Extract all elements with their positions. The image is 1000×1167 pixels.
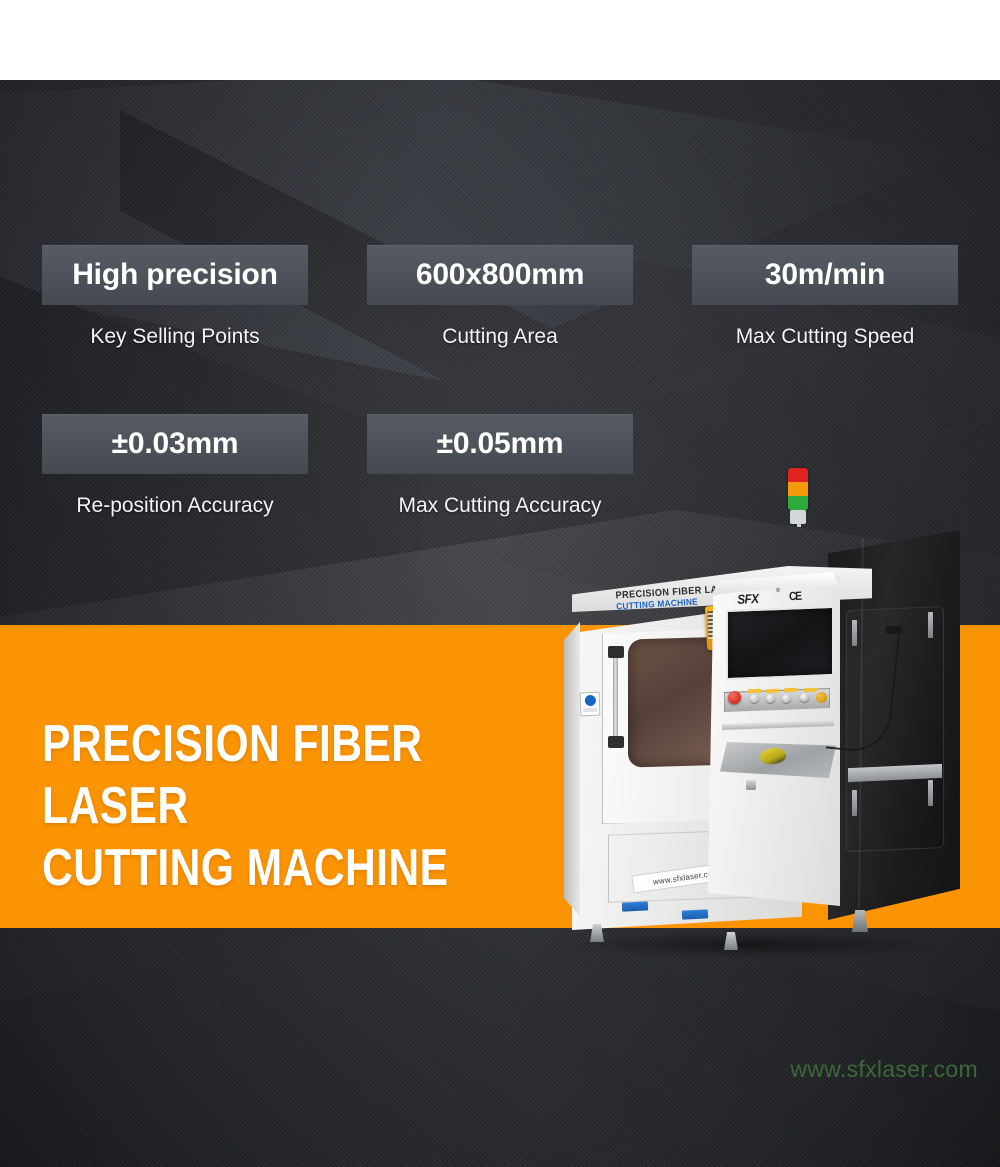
headline-line-1: PRECISION FIBER LASER [42, 713, 550, 837]
spec-value: 600x800mm [416, 260, 584, 290]
sfx-logo: SFX [736, 589, 777, 605]
spec-value: ±0.03mm [112, 429, 239, 459]
page-title: PRECISION FIBER LASER CUTTING MACHINE [42, 713, 550, 899]
machine-floor-shadow [560, 932, 940, 958]
door-handle-grip [608, 736, 624, 748]
enclosure-hinge [928, 612, 933, 638]
spec-label: Re-position Accuracy [42, 494, 308, 517]
console-monitor-screen [726, 606, 834, 680]
cabinet-side-face [564, 622, 580, 922]
spec-label: Cutting Area [367, 325, 633, 348]
signal-tower-base [790, 510, 806, 524]
sfx-logo-text: SFX [737, 591, 759, 607]
registered-trademark-icon: ® [776, 588, 781, 594]
spec-label: Key Selling Points [42, 325, 308, 348]
button-label-tag [766, 689, 779, 693]
spec-value-box: 30m/min [692, 245, 958, 305]
ce-mark-icon: CE [789, 589, 801, 604]
spec-item-max-cutting-speed: 30m/min Max Cutting Speed [692, 245, 958, 348]
tower-light-amber [788, 482, 808, 496]
enclosure-hinge [928, 780, 933, 806]
headline-line-2: CUTTING MACHINE [42, 837, 550, 899]
cabinet-blue-label [622, 901, 648, 911]
enclosure-hinge [852, 790, 857, 816]
spec-item-cutting-area: 600x800mm Cutting Area [367, 245, 633, 348]
door-handle-grip [608, 646, 624, 658]
cabinet-blue-label [682, 909, 708, 919]
spec-value-box: ±0.03mm [42, 414, 308, 474]
button-label-tag [784, 688, 797, 692]
product-photo-laser-cutting-machine: PRECISION FIBER LASER CUTTING MACHINE ww… [560, 480, 960, 970]
tower-light-red [788, 468, 808, 482]
spec-value-box: High precision [42, 245, 308, 305]
door-handle [613, 650, 618, 748]
tray-latch [746, 780, 756, 790]
button-label-tag [804, 688, 817, 692]
spec-value-box: 600x800mm [367, 245, 633, 305]
tower-light-green [788, 496, 808, 510]
spec-value: High precision [72, 260, 278, 290]
signal-tower-light [788, 468, 808, 510]
spec-item-key-selling-points: High precision Key Selling Points [42, 245, 308, 348]
spec-value: ±0.05mm [437, 429, 564, 459]
button-label-tag [748, 689, 761, 693]
spec-value: 30m/min [765, 260, 885, 290]
spec-item-reposition-accuracy: ±0.03mm Re-position Accuracy [42, 414, 308, 517]
product-banner: High precision Key Selling Points 600x80… [0, 0, 1000, 1167]
spec-value-box: ±0.05mm [367, 414, 633, 474]
spec-label: Max Cutting Speed [692, 325, 958, 348]
cable-anchor [886, 626, 902, 634]
site-watermark: www.sfxlaser.com [790, 1056, 978, 1083]
safety-warning-sticker [580, 692, 601, 717]
